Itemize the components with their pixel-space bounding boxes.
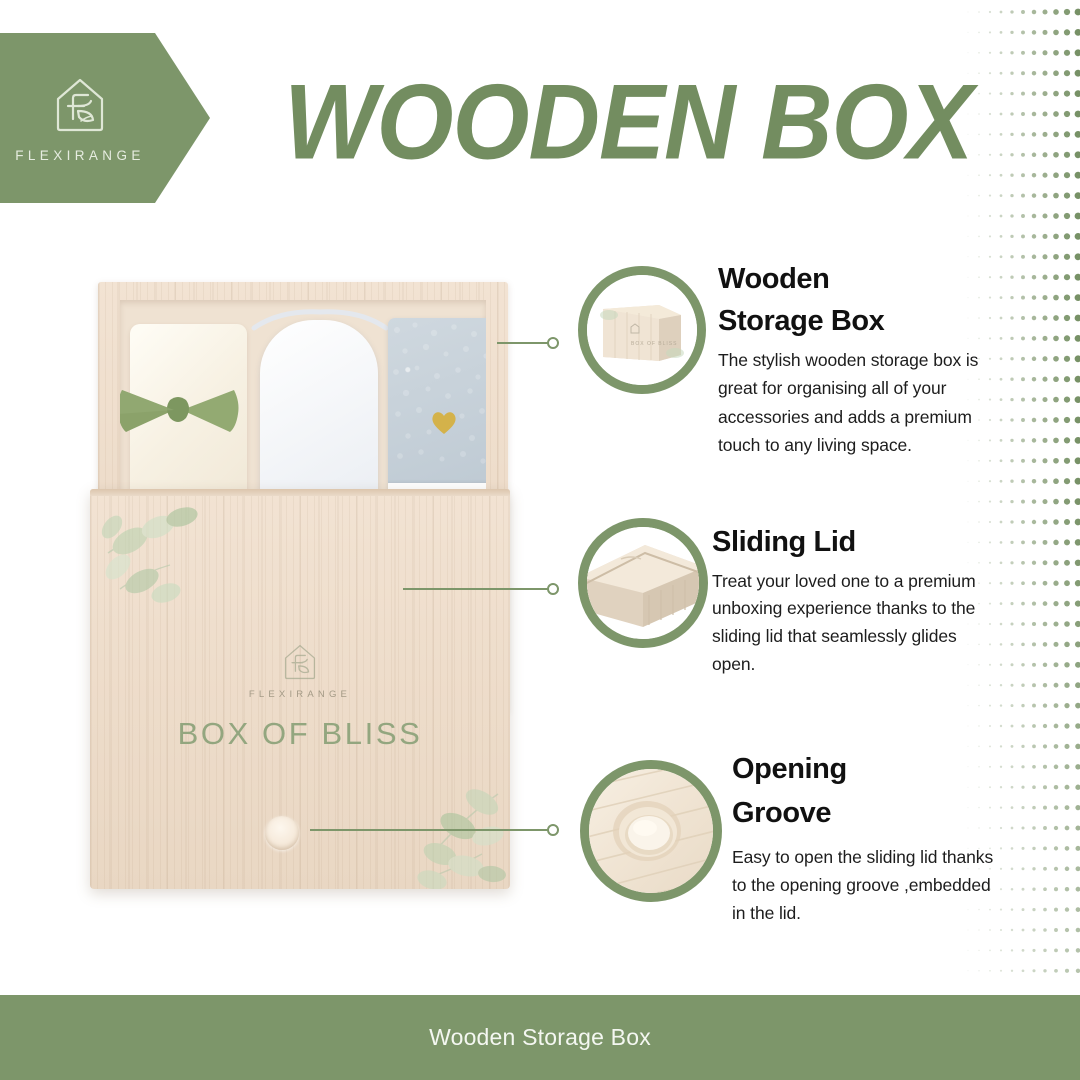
page-title: WOODEN BOX [284, 68, 973, 175]
feature-title: Sliding Lid [712, 524, 992, 562]
gold-heart-icon [430, 410, 458, 436]
house-leaf-logo-icon [279, 641, 321, 683]
eucalyptus-leaf-decoration [350, 754, 510, 889]
lid-title-engraving: BOX OF BLISS [178, 716, 423, 752]
feature-description: The stylish wooden storage box is great … [718, 346, 986, 459]
feature-title-line-2: Groove [732, 792, 1004, 836]
connector-knob [547, 583, 559, 595]
opening-groove-thumbnail [589, 769, 713, 893]
svg-text:BOX OF BLISS: BOX OF BLISS [631, 341, 677, 347]
lid-top-edge [90, 489, 510, 496]
feature-thumbnail [578, 518, 708, 648]
connector-line [403, 588, 549, 590]
feature-description: Easy to open the sliding lid thanks to t… [732, 843, 1004, 927]
connector-knob [547, 824, 559, 836]
feature-text: Wooden Storage Box The stylish wooden st… [718, 258, 986, 459]
feature-title-line-2: Storage Box [718, 300, 986, 342]
feature-description: Treat your loved one to a premium unboxi… [712, 568, 992, 679]
brand-name: FLEXIRANGE [15, 148, 145, 163]
lid-branding: FLEXIRANGE BOX OF BLISS [90, 641, 510, 752]
feature-title-line-1: Wooden [718, 258, 986, 300]
connector-knob [547, 337, 559, 349]
brand-logo-badge: FLEXIRANGE [0, 33, 210, 203]
sliding-lid-thumbnail [587, 527, 699, 639]
feature-title-line-1: Opening [732, 748, 1004, 792]
feature-text: Opening Groove Easy to open the sliding … [732, 748, 1004, 927]
feature-title: Wooden Storage Box [718, 258, 986, 342]
feature-text: Sliding Lid Treat your loved one to a pr… [712, 524, 992, 678]
house-leaf-logo-icon [48, 73, 112, 137]
lid-brand-word: FLEXIRANGE [249, 689, 351, 700]
feature-thumbnail: BOX OF BLISS [578, 266, 706, 394]
eucalyptus-leaf-decoration [96, 493, 246, 623]
green-ribbon-bow-icon [120, 384, 242, 436]
opening-groove-dimple [265, 816, 299, 850]
closed-wooden-box-thumbnail: BOX OF BLISS [587, 275, 697, 385]
footer-caption: Wooden Storage Box [429, 1024, 651, 1051]
callout-connector-2 [403, 583, 559, 595]
connector-line [310, 829, 549, 831]
footer-banner: Wooden Storage Box [0, 995, 1080, 1080]
callout-connector-1 [497, 337, 559, 349]
header: FLEXIRANGE WOODEN BOX [0, 0, 1080, 210]
callout-connector-3 [310, 824, 559, 836]
connector-line [497, 342, 549, 344]
feature-thumbnail [580, 760, 722, 902]
feature-title: Opening Groove [732, 748, 1004, 835]
